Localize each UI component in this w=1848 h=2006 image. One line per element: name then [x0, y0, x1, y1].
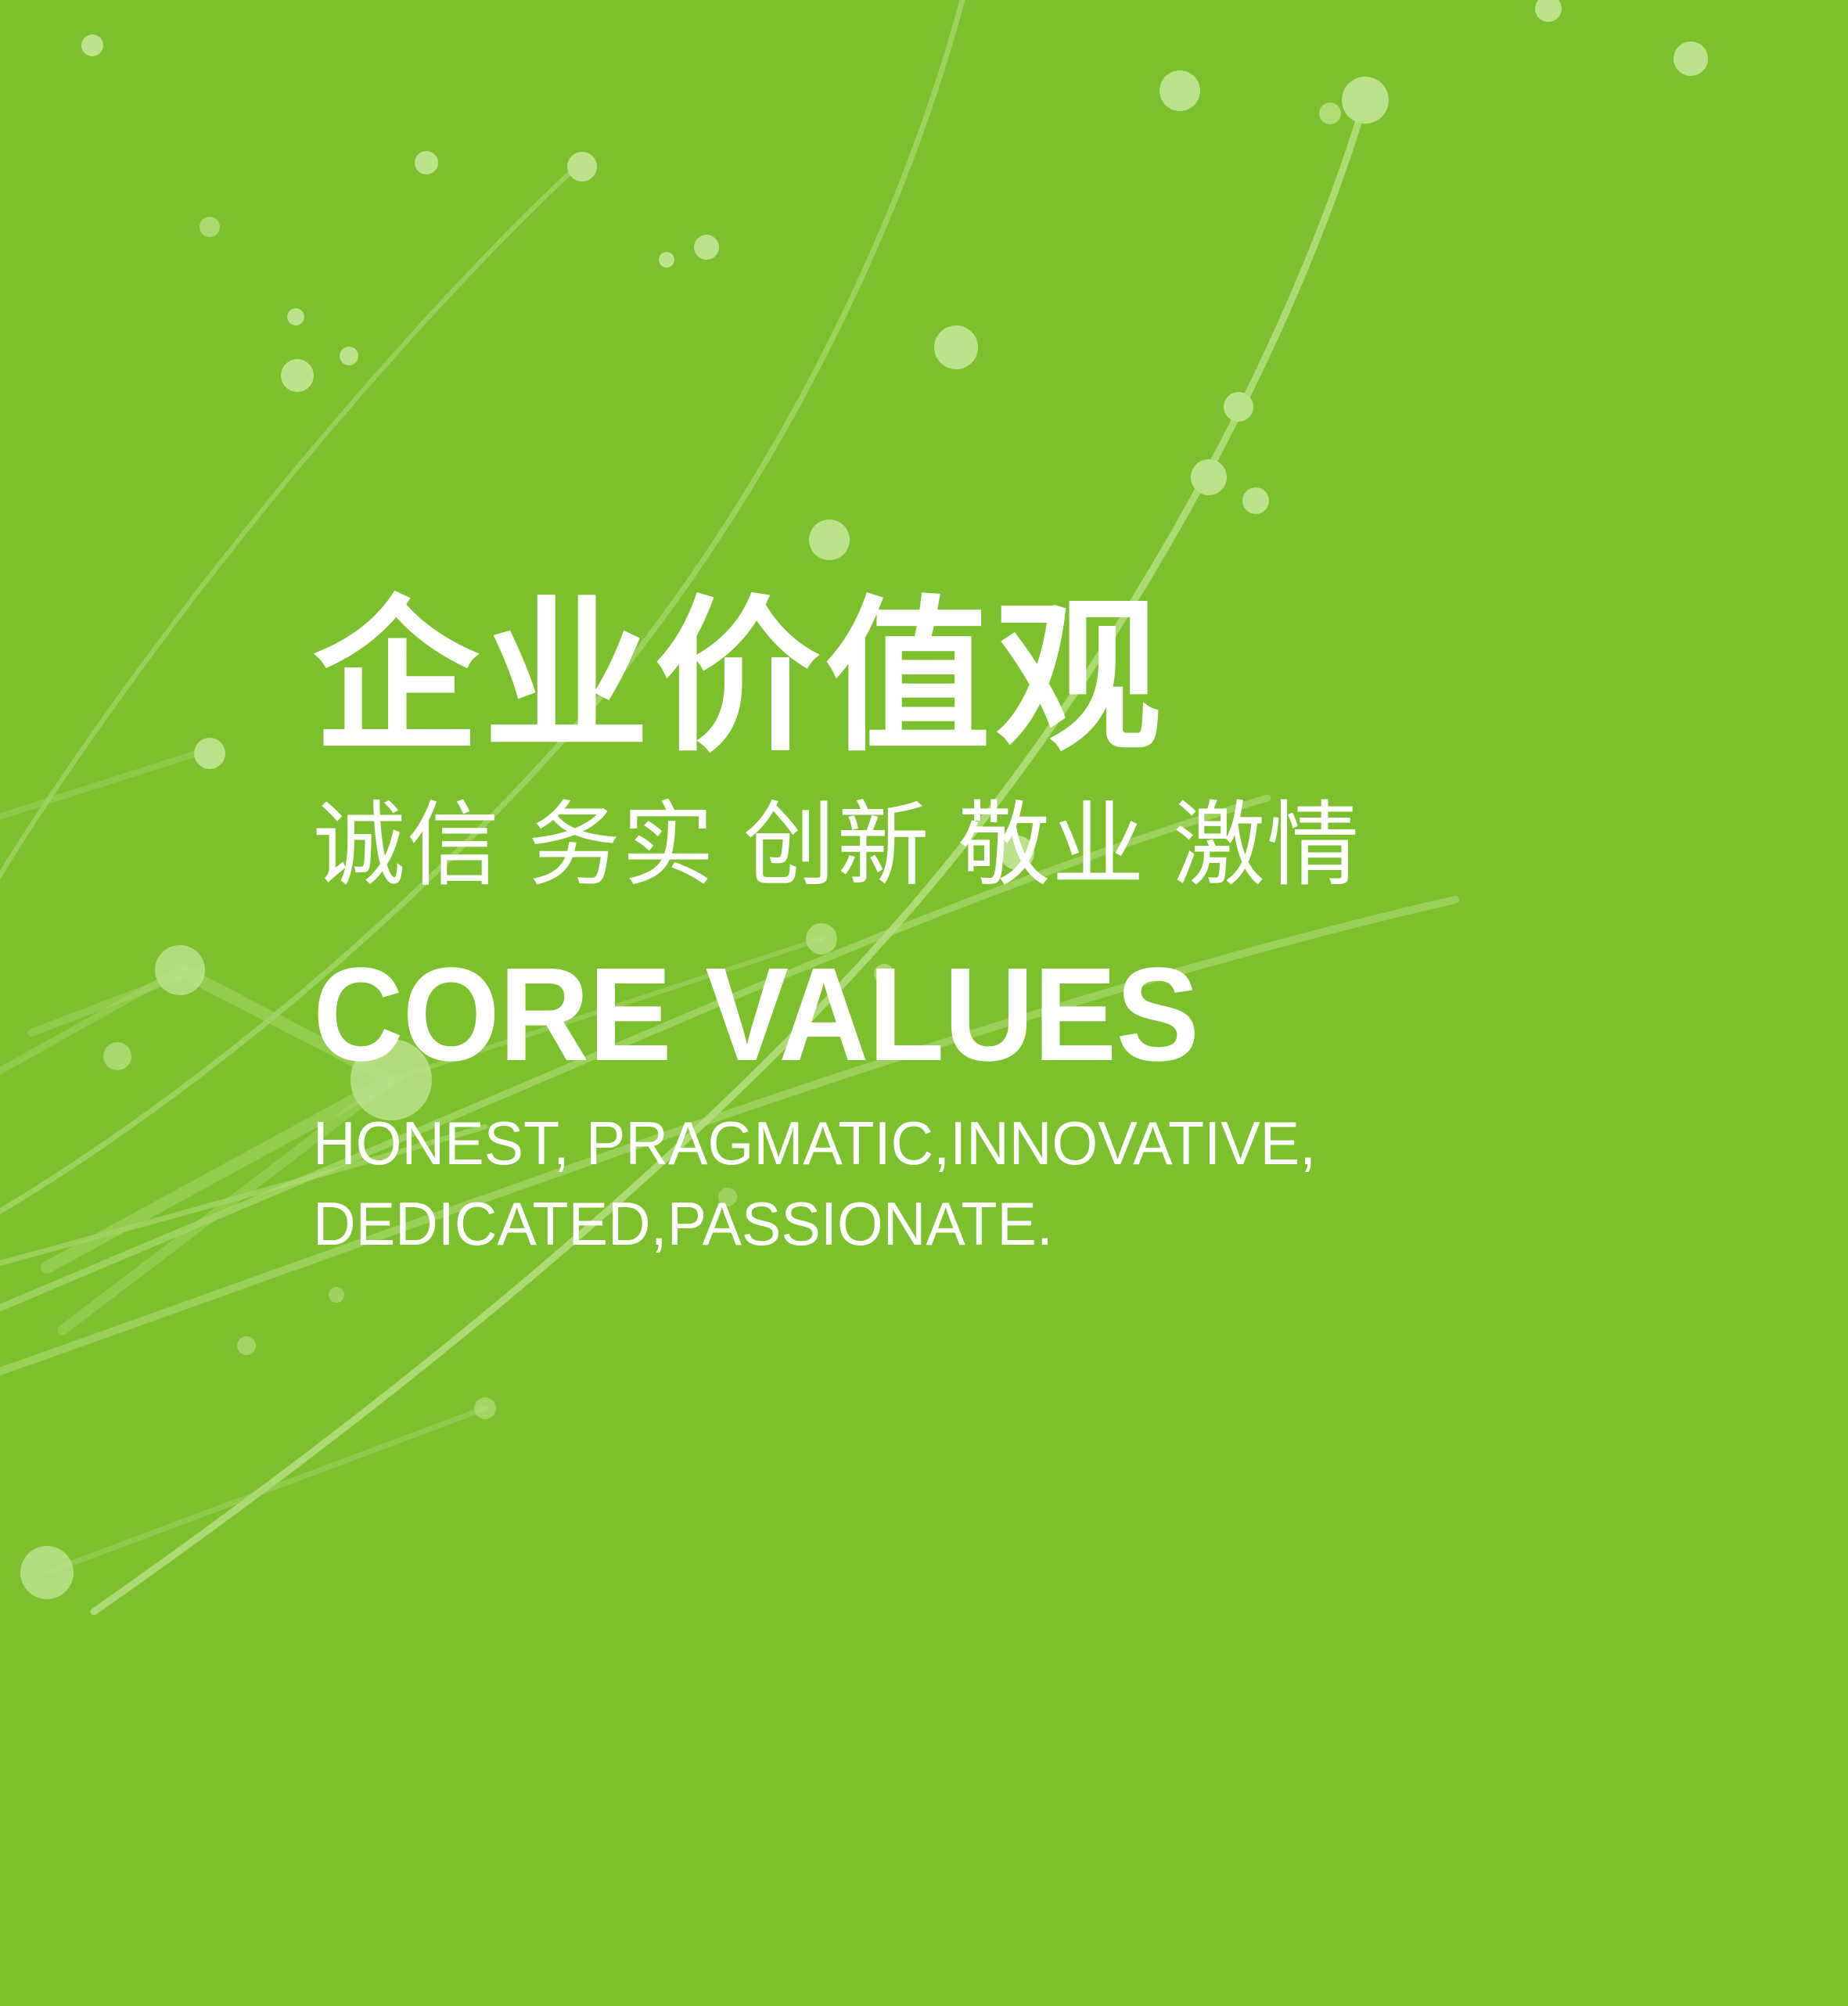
english-title: CORE VALUES	[313, 892, 1637, 1081]
page-title: 企业价值观	[313, 595, 1721, 760]
english-values-body: HONEST, PRAGMATIC,INNOVATIVE, DEDICATED,…	[313, 1081, 1679, 1264]
core-values-poster: 企业价值观 诚信 务实 创新 敬业 激情 CORE VALUES HONEST,…	[0, 0, 1848, 2006]
poster-text-content: 企业价值观 诚信 务实 创新 敬业 激情 CORE VALUES HONEST,…	[313, 595, 1721, 1264]
english-values-line-1: HONEST, PRAGMATIC,INNOVATIVE,	[313, 1103, 1679, 1184]
english-values-line-2: DEDICATED,PASSIONATE.	[313, 1184, 1679, 1264]
chinese-values-subtitle: 诚信 务实 创新 敬业 激情	[313, 760, 1721, 892]
